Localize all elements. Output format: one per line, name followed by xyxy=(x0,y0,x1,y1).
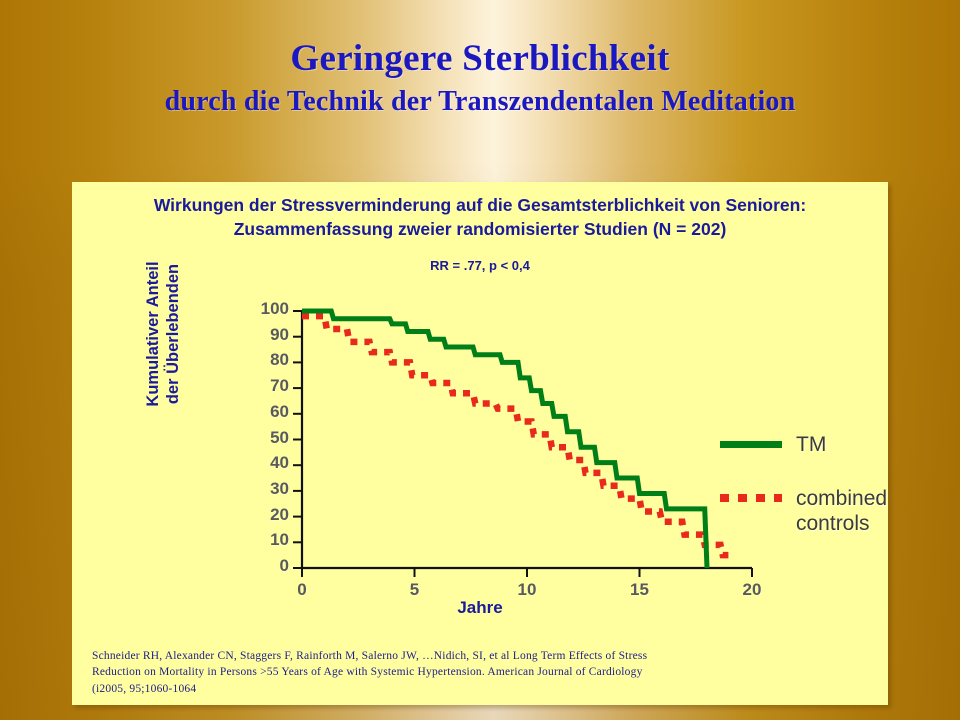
x-tick-label: 15 xyxy=(620,580,660,600)
y-tick-label: 50 xyxy=(247,428,289,448)
x-tick-label: 20 xyxy=(732,580,772,600)
y-axis-label: Kumulativer Anteil der Überlebenden xyxy=(143,209,183,459)
series-line-combined-controls xyxy=(302,316,734,555)
y-axis-label-line-1: Kumulativer Anteil xyxy=(143,209,163,459)
y-tick-label: 30 xyxy=(247,479,289,499)
legend-label-line-2: controls xyxy=(796,512,870,535)
chart-title-line-1: Wirkungen der Stressverminderung auf die… xyxy=(86,194,874,218)
citation-line-3: (i2005, 95;1060-1064 xyxy=(92,681,868,697)
slide-title-primary: Geringere Sterblichkeit xyxy=(0,38,960,79)
series-line-tm xyxy=(302,311,707,568)
y-tick-label: 70 xyxy=(247,376,289,396)
legend-swatch-dotted-line-icon xyxy=(720,494,782,502)
x-tick-label: 10 xyxy=(507,580,547,600)
x-axis-label: Jahre xyxy=(72,598,888,618)
x-tick-label: 0 xyxy=(282,580,322,600)
citation-line-1: Schneider RH, Alexander CN, Staggers F, … xyxy=(92,648,868,664)
plot-area xyxy=(302,311,752,568)
slide-title-secondary: durch die Technik der Transzendentalen M… xyxy=(0,85,960,119)
y-tick-label: 40 xyxy=(247,453,289,473)
chart-title: Wirkungen der Stressverminderung auf die… xyxy=(86,194,874,241)
y-tick-label: 0 xyxy=(247,556,289,576)
citation-line-2: Reduction on Mortality in Persons >55 Ye… xyxy=(92,664,868,680)
legend-swatch-solid-line-icon xyxy=(720,441,782,448)
citation: Schneider RH, Alexander CN, Staggers F, … xyxy=(92,648,868,697)
slide-heading: Geringere Sterblichkeit durch die Techni… xyxy=(0,38,960,119)
chart-title-line-2: Zusammenfassung zweier randomisierter St… xyxy=(86,218,874,242)
y-tick-label: 20 xyxy=(247,505,289,525)
y-tick-label: 10 xyxy=(247,530,289,550)
y-tick-label: 60 xyxy=(247,402,289,422)
y-tick-marks xyxy=(293,311,302,568)
y-tick-label: 100 xyxy=(247,299,289,319)
chart-panel: Wirkungen der Stressverminderung auf die… xyxy=(72,182,888,705)
survival-chart: Kumulativer Anteil der Überlebenden 0102… xyxy=(72,282,888,632)
plot-svg xyxy=(302,311,752,568)
y-tick-label: 90 xyxy=(247,325,289,345)
y-tick-label: 80 xyxy=(247,350,289,370)
y-axis-label-line-2: der Überlebenden xyxy=(163,209,183,459)
x-tick-marks xyxy=(302,568,752,577)
legend-label-line-1: combined xyxy=(796,487,887,510)
chart-statistic: RR = .77, p < 0,4 xyxy=(86,258,874,273)
legend-label-combined-controls: combined controls xyxy=(796,487,887,537)
legend-label-tm: TM xyxy=(796,433,826,458)
x-tick-label: 5 xyxy=(395,580,435,600)
slide-canvas: Geringere Sterblichkeit durch die Techni… xyxy=(0,0,960,720)
